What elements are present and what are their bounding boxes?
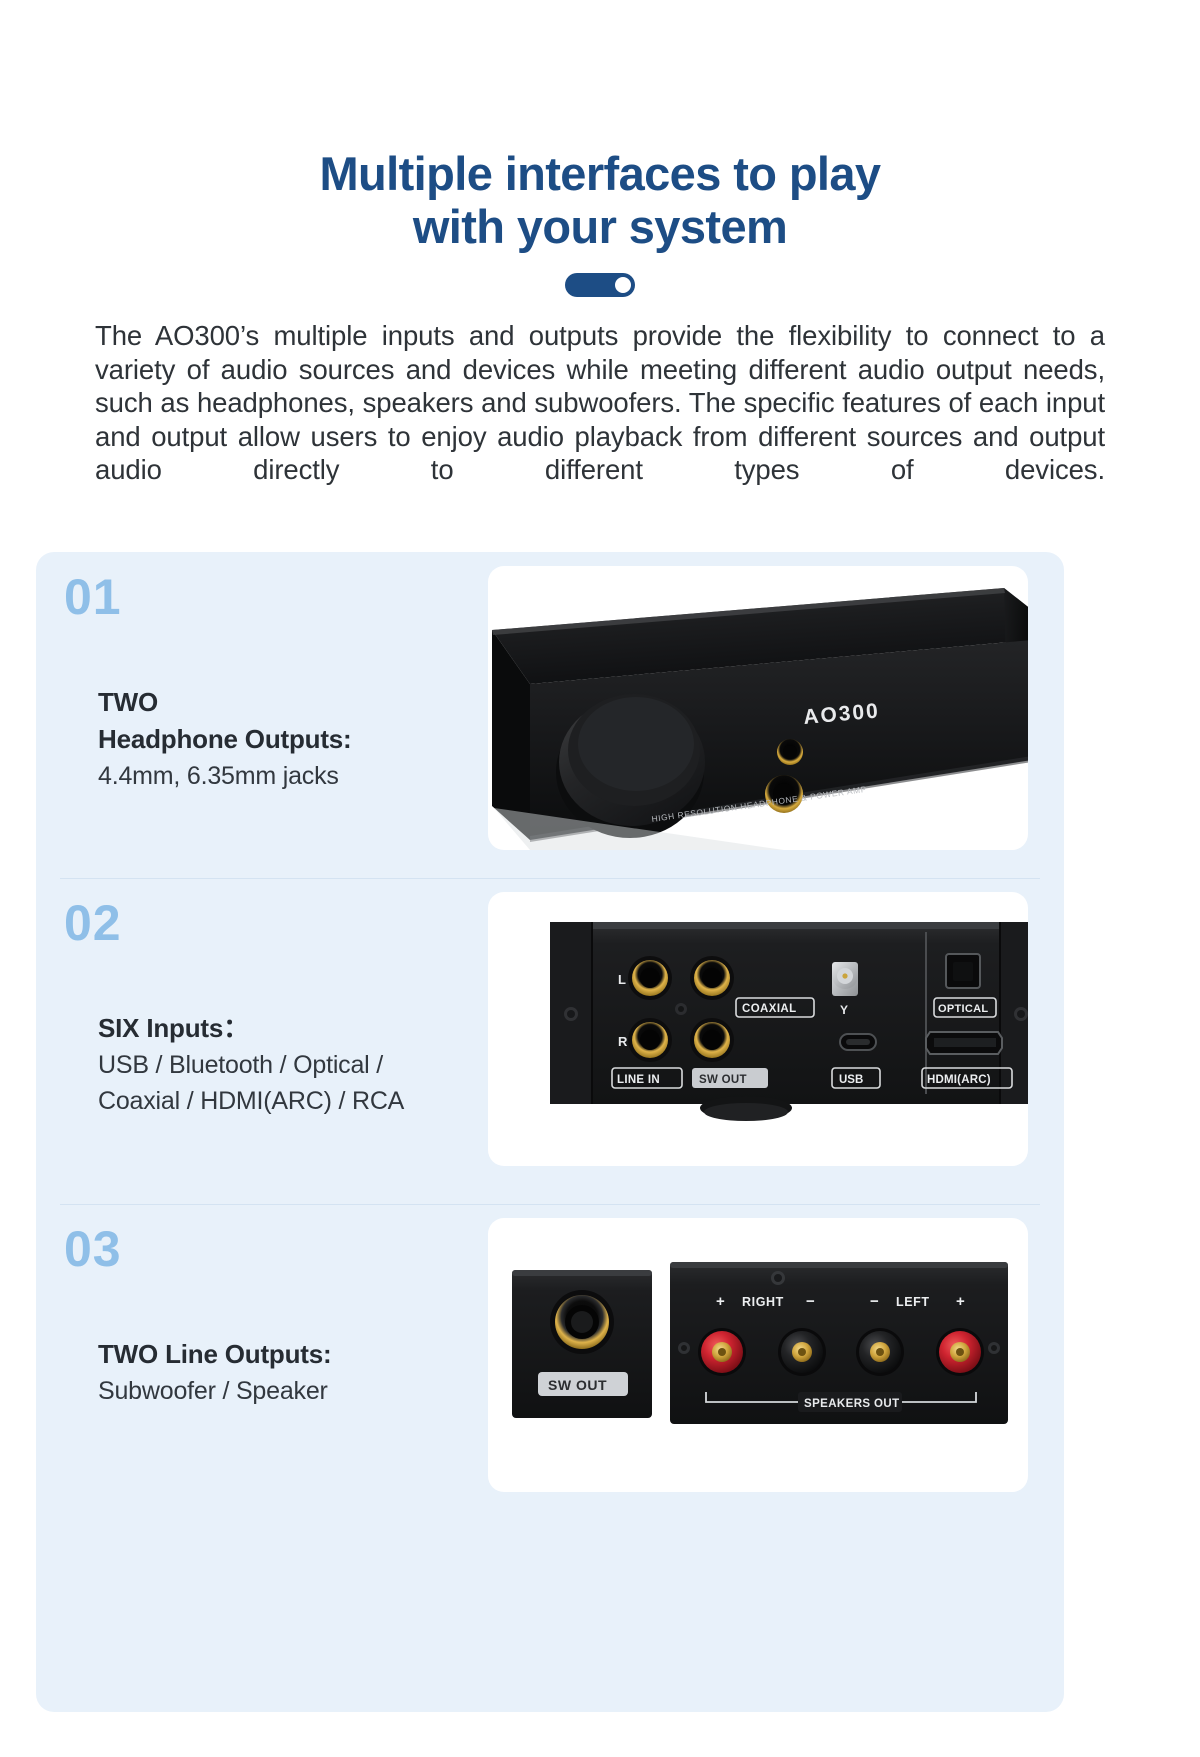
feature-heading-03: TWO Line Outputs: [98,1336,488,1373]
product-feature-page: Multiple interfaces to play with your sy… [0,0,1200,1757]
port-label-r: R [618,1034,628,1049]
feature-heading-01-line-2: Headphone Outputs: [98,721,488,758]
polarity-label-left-plus: + [956,1293,965,1310]
port-label-coaxial: COAXIAL [742,1003,797,1015]
feature-text-03: 03 TWO Line Outputs: Subwoofer / Speaker [36,1204,488,1409]
output-label-sw-out: SW OUT [548,1377,607,1393]
feature-image-card-03: SW OUT + RIGHT − − LEFT + [488,1218,1028,1492]
hero-description: The AO300’s multiple inputs and outputs … [85,319,1115,520]
hero-section: Multiple interfaces to play with your sy… [0,0,1200,521]
feature-row-01: 01 TWO Headphone Outputs: 4.4mm, 6.35mm … [36,552,1064,878]
feature-text-02: 02 SIX Inputs： USB / Bluetooth / Optical… [36,878,488,1119]
amp-rear-panel-photo: L R [546,906,1028,1146]
port-label-line-in: LINE IN [617,1074,660,1086]
feature-number-03: 03 [64,1224,488,1274]
channel-label-left: LEFT [896,1295,930,1309]
amp-front-panel-photo: AO300 HIGH RESOLUTION HEADPHONE & POWER … [488,574,1028,850]
feature-subtext-01: 4.4mm, 6.35mm jacks [98,758,488,794]
feature-number-01: 01 [64,572,488,622]
feature-image-card-02: L R [488,892,1028,1166]
feature-row-02: 02 SIX Inputs： USB / Bluetooth / Optical… [36,878,1064,1204]
feature-text-01: 01 TWO Headphone Outputs: 4.4mm, 6.35mm … [36,552,488,794]
feature-row-03: 03 TWO Line Outputs: Subwoofer / Speaker [36,1204,1064,1530]
feature-labels-02: SIX Inputs： USB / Bluetooth / Optical / … [64,948,488,1119]
polarity-label-left-minus: − [870,1293,879,1310]
page-title-line-2: with your system [0,201,1200,254]
port-label-l: L [618,972,626,987]
feature-subtext-02-line-2: Coaxial / HDMI(ARC) / RCA [98,1083,488,1119]
feature-heading-02: SIX Inputs： [98,1010,488,1047]
page-title-line-1: Multiple interfaces to play [320,147,881,200]
toggle-divider-ornament [565,273,635,297]
port-label-usb: USB [839,1074,863,1086]
output-label-speakers-out: SPEAKERS OUT [804,1398,900,1410]
polarity-label-right-plus: + [716,1293,725,1310]
port-label-sw-out: SW OUT [699,1074,747,1086]
page-title: Multiple interfaces to play with your sy… [0,148,1200,253]
feature-number-02: 02 [64,898,488,948]
port-label-y: Y [840,1003,848,1017]
port-label-hdmi-arc: HDMI(ARC) [927,1074,991,1086]
feature-labels-03: TWO Line Outputs: Subwoofer / Speaker [64,1274,488,1409]
feature-heading-01-line-1: TWO [98,684,488,721]
polarity-label-right-minus: − [806,1293,815,1310]
toggle-knob-icon [613,275,633,295]
hero-description-text: The AO300’s multiple inputs and outputs … [95,319,1105,520]
feature-labels-01: TWO Headphone Outputs: 4.4mm, 6.35mm jac… [64,622,488,794]
port-label-optical: OPTICAL [938,1003,988,1015]
feature-panel: 01 TWO Headphone Outputs: 4.4mm, 6.35mm … [36,552,1064,1712]
channel-label-right: RIGHT [742,1295,784,1309]
feature-subtext-03: Subwoofer / Speaker [98,1373,488,1409]
feature-subtext-02-line-1: USB / Bluetooth / Optical / [98,1047,488,1083]
amp-outputs-photo: SW OUT + RIGHT − − LEFT + [510,1260,1010,1430]
feature-image-card-01: AO300 HIGH RESOLUTION HEADPHONE & POWER … [488,566,1028,850]
